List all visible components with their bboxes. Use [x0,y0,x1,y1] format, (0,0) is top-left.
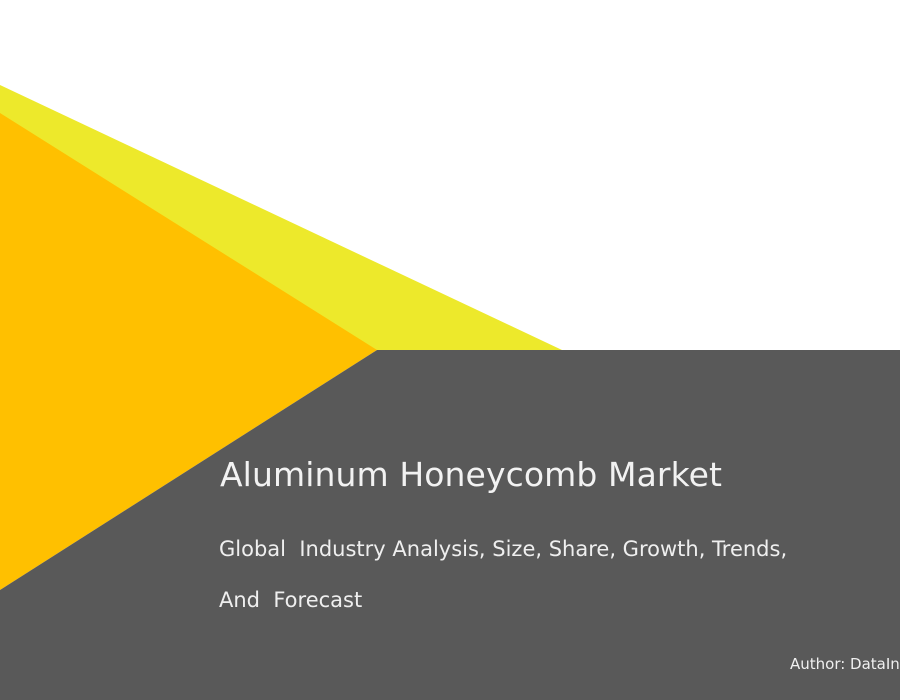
page-subtitle-line-1: Global Industry Analysis, Size, Share, G… [219,537,787,561]
page-subtitle-line-2: And Forecast [219,588,362,612]
report-cover-page: Aluminum Honeycomb Market Global Industr… [0,0,900,700]
author-label: Author: DataIntelo [790,653,900,675]
cover-text-layer: Aluminum Honeycomb Market Global Industr… [0,0,900,700]
page-title: Aluminum Honeycomb Market [220,455,722,495]
page-subtitle: Global Industry Analysis, Size, Share, G… [219,524,900,626]
